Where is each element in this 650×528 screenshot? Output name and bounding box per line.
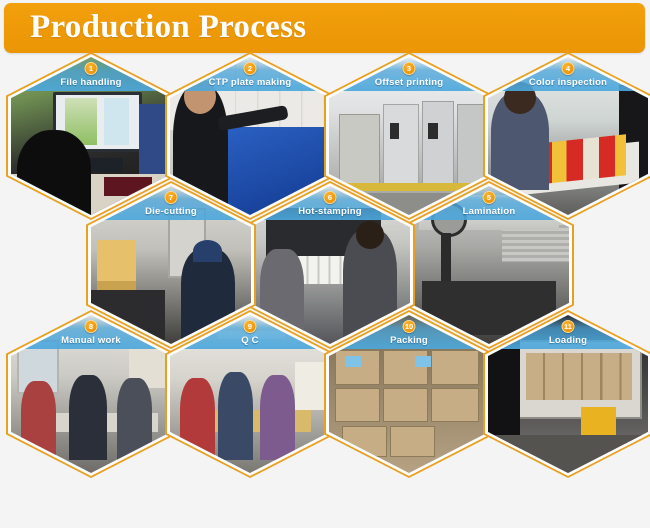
step-photo: 7Die-cutting	[91, 186, 251, 344]
scene-shape	[69, 375, 107, 460]
process-step-5[interactable]: 5Lamination	[404, 181, 574, 349]
scene-shape	[180, 378, 215, 460]
scene-shape	[431, 350, 479, 385]
page-title-bar: Production Process	[4, 3, 645, 53]
step-number-badge: 6	[324, 191, 337, 204]
scene-shape	[415, 356, 431, 367]
scene-shape	[581, 407, 616, 435]
step-number-badge: 1	[85, 62, 98, 75]
scene-shape	[295, 362, 327, 409]
production-process-infographic: Production Process 1File handling2CTP pl…	[0, 0, 650, 528]
process-step-grid: 1File handling2CTP plate making3Offset p…	[0, 52, 650, 528]
process-step-6[interactable]: 6Hot-stamping	[245, 181, 415, 349]
scene-shape	[104, 98, 130, 145]
scene-shape	[17, 130, 91, 215]
scene-shape	[431, 388, 479, 423]
process-step-7[interactable]: 7Die-cutting	[86, 181, 256, 349]
scene-shape	[457, 104, 486, 189]
scene-shape	[488, 435, 648, 473]
step-photo: 6Hot-stamping	[250, 186, 410, 344]
page-title: Production Process	[30, 9, 306, 46]
scene-shape	[218, 372, 253, 460]
scene-shape	[260, 375, 295, 460]
scene-shape	[390, 426, 435, 458]
step-number-badge: 4	[562, 62, 575, 75]
scene-shape	[97, 240, 135, 281]
hex-inner-frame: 7Die-cutting	[88, 183, 254, 347]
scene-shape	[383, 104, 418, 189]
scene-shape	[428, 123, 438, 139]
scene-shape	[390, 123, 400, 139]
scene-shape	[422, 101, 454, 189]
scene-shape	[91, 290, 165, 344]
step-number-badge: 7	[165, 191, 178, 204]
step-photo: 5Lamination	[409, 186, 569, 344]
scene-shape	[422, 281, 556, 335]
scene-shape	[383, 350, 428, 385]
step-number-badge: 2	[244, 62, 257, 75]
step-number-badge: 5	[483, 191, 496, 204]
scene-shape	[335, 350, 380, 385]
scene-shape	[260, 249, 305, 344]
scene-shape	[526, 353, 632, 400]
scene-shape	[21, 381, 56, 460]
scene-shape	[339, 114, 381, 190]
scene-shape	[383, 388, 428, 423]
scene-shape	[335, 388, 380, 423]
scene-shape	[193, 240, 222, 262]
hex-inner-frame: 6Hot-stamping	[247, 183, 413, 347]
hex-inner-frame: 5Lamination	[406, 183, 572, 347]
step-number-badge: 3	[403, 62, 416, 75]
scene-shape	[441, 233, 451, 287]
scene-shape	[345, 356, 361, 367]
scene-shape	[342, 426, 387, 458]
